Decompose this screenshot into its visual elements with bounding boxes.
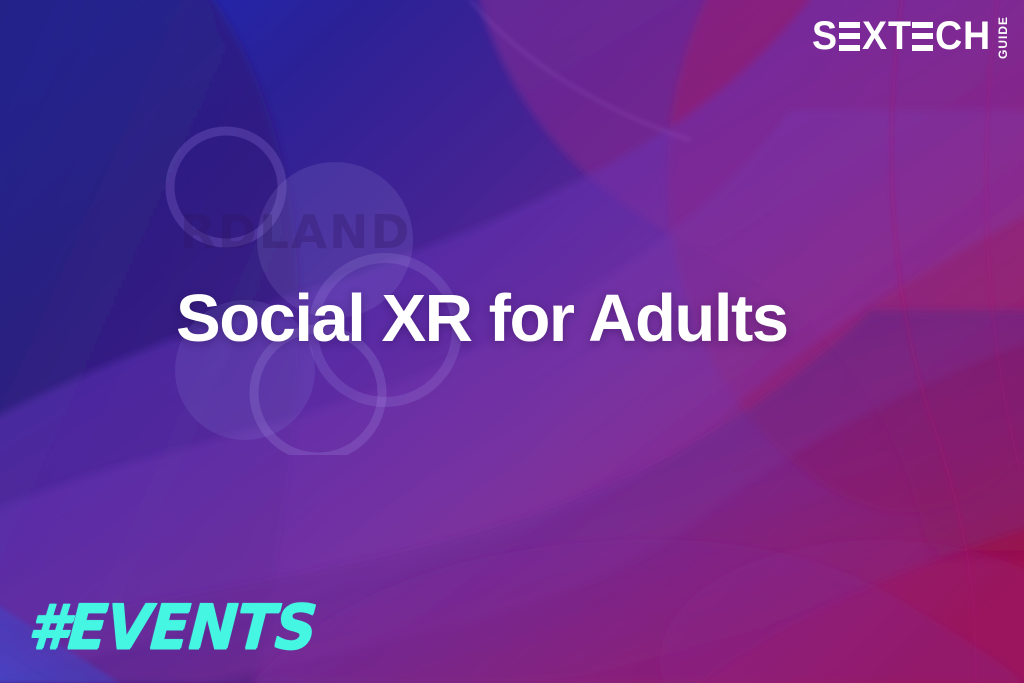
logo-letter-e-2: [912, 22, 933, 51]
events-hashtag-badge[interactable]: #EVENTS: [26, 592, 318, 662]
logo-letter-t: T: [888, 17, 910, 55]
logo-guide-text: GUIDE: [996, 23, 1010, 53]
logo-letter-e-1: [839, 22, 860, 51]
sextech-guide-logo[interactable]: S X T C H GUIDE: [812, 13, 1010, 55]
logo-letter-s: S: [812, 17, 836, 55]
logo-letter-h: H: [963, 17, 989, 55]
logo-wordmark: S X T C H: [812, 17, 991, 55]
event-banner: RDLAND S X T C H GUIDE Social XR for Adu…: [0, 0, 1024, 683]
logo-letter-x: X: [862, 17, 886, 55]
logo-letter-c: C: [935, 17, 961, 55]
page-title: Social XR for Adults: [176, 283, 788, 355]
